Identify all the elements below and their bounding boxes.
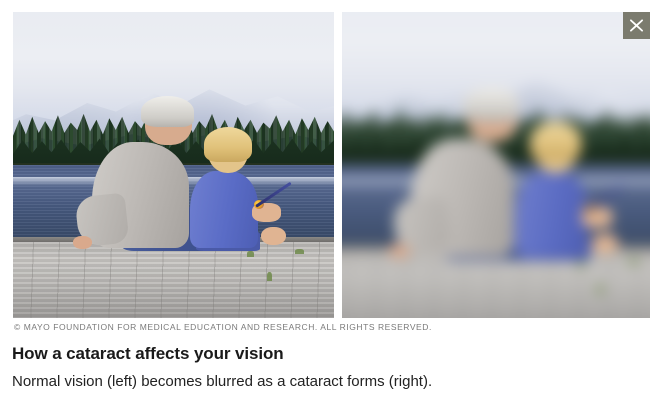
image-credit: © MAYO FOUNDATION FOR MEDICAL EDUCATION … [14, 322, 432, 332]
child-shirt [190, 171, 257, 248]
wooden-dock [342, 250, 650, 318]
adult-hair [141, 96, 194, 127]
scene-normal [13, 12, 334, 318]
child-shirt [515, 171, 587, 257]
image-comparison-row [13, 12, 650, 318]
grass-tuft [577, 260, 585, 267]
child-hair [530, 121, 582, 160]
grass-tuft [598, 284, 604, 294]
child-figure [186, 131, 282, 247]
figure-title: How a cataract affects your vision [12, 344, 284, 364]
scene-blurred [342, 12, 650, 318]
grass-tuft [629, 258, 639, 264]
adult-hand [73, 236, 92, 249]
grass-tuft [247, 251, 254, 257]
adult-hand [389, 244, 410, 259]
photo-cataract-vision [342, 12, 650, 318]
close-button[interactable] [623, 12, 650, 39]
grass-tuft [295, 249, 304, 254]
figure-container: © MAYO FOUNDATION FOR MEDICAL EDUCATION … [0, 0, 662, 409]
photo-normal-vision [13, 12, 334, 318]
figure-caption: Normal vision (left) becomes blurred as … [12, 373, 432, 390]
close-icon [629, 18, 644, 33]
child-hair [204, 127, 252, 162]
child-figure [511, 127, 614, 257]
wooden-dock [13, 242, 334, 319]
grass-tuft [267, 272, 272, 281]
adult-hair [462, 87, 519, 122]
